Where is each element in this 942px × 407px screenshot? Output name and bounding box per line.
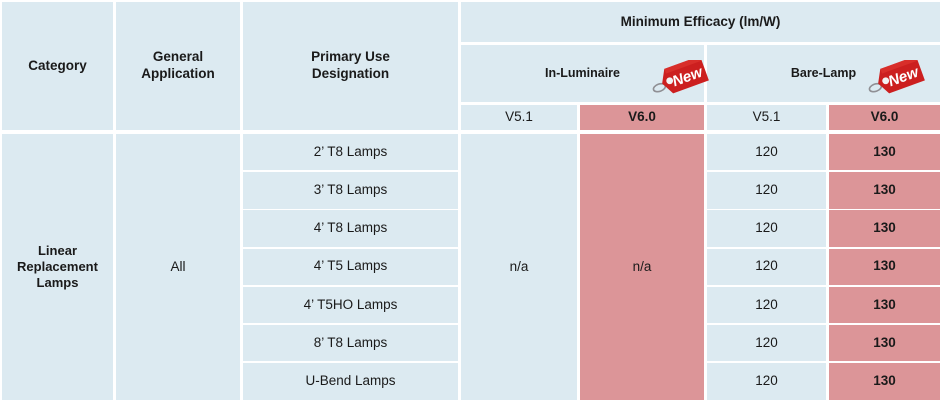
header-bare-lamp-v51: V5.1 (707, 105, 826, 130)
table-row-bare-lamp-v51: 120 (707, 363, 826, 399)
header-in-luminaire-group: In-Luminaire (461, 45, 704, 102)
table-row-designation: U-Bend Lamps (243, 363, 458, 399)
table-row-bare-lamp-v60: 130 (829, 210, 940, 246)
body-general-application-all: All (116, 134, 240, 400)
table-row-bare-lamp-v51: 120 (707, 249, 826, 285)
table-row-bare-lamp-v51: 120 (707, 172, 826, 208)
table-row-bare-lamp-v51: 120 (707, 134, 826, 170)
header-minimum-efficacy-group: Minimum Efficacy (lm/W) (461, 2, 940, 42)
header-bare-lamp-group: Bare-Lamp (707, 45, 940, 102)
table-row-bare-lamp-v51: 120 (707, 210, 826, 246)
header-general-application: General Application (116, 2, 240, 130)
table-row-designation: 3’ T8 Lamps (243, 172, 458, 208)
header-bare-lamp-v60: V6.0 (829, 105, 940, 130)
table-row-designation: 2’ T8 Lamps (243, 134, 458, 170)
table-row-bare-lamp-v60: 130 (829, 172, 940, 208)
table-row-bare-lamp-v51: 120 (707, 325, 826, 361)
header-in-luminaire-v60: V6.0 (580, 105, 704, 130)
table-row-designation: 8’ T8 Lamps (243, 325, 458, 361)
table-row-bare-lamp-v60: 130 (829, 249, 940, 285)
body-category-linear-replacement-lamps: Linear Replacement Lamps (2, 134, 113, 400)
body-in-luminaire-v51-na: n/a (461, 134, 577, 400)
header-category: Category (2, 2, 113, 130)
table-row-bare-lamp-v60: 130 (829, 287, 940, 323)
table-row-designation: 4’ T5 Lamps (243, 249, 458, 285)
table-row-bare-lamp-v60: 130 (829, 325, 940, 361)
table-row-designation: 4’ T5HO Lamps (243, 287, 458, 323)
body-in-luminaire-v60-na: n/a (580, 134, 704, 400)
header-in-luminaire-v51: V5.1 (461, 105, 577, 130)
table-row-bare-lamp-v51: 120 (707, 287, 826, 323)
table-row-bare-lamp-v60: 130 (829, 134, 940, 170)
header-primary-use-designation: Primary Use Designation (243, 2, 458, 130)
table-row-designation: 4’ T8 Lamps (243, 210, 458, 246)
efficacy-requirements-table: Category General Application Primary Use… (0, 0, 942, 407)
table-row-bare-lamp-v60: 130 (829, 363, 940, 399)
